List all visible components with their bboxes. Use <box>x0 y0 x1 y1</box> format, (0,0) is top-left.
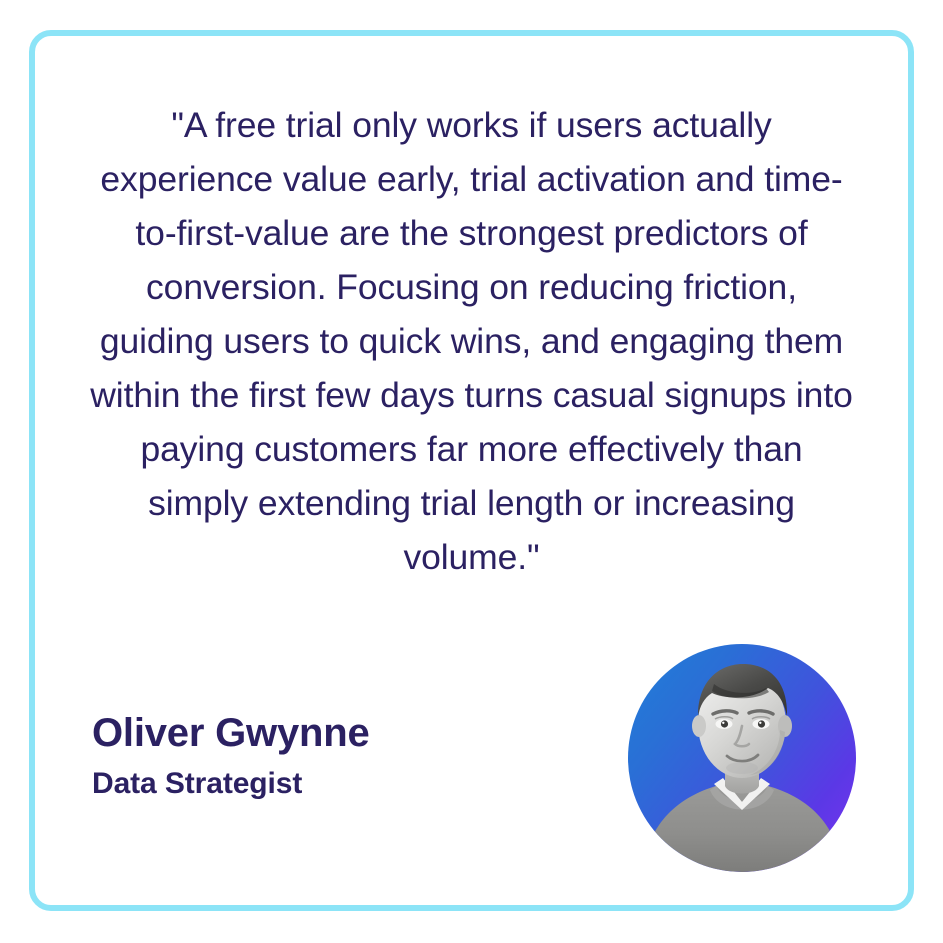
testimonial-stage: "A free trial only works if users actual… <box>0 0 943 943</box>
quote-block: "A free trial only works if users actual… <box>35 36 908 584</box>
person-portrait-icon <box>628 644 856 872</box>
quote-text: "A free trial only works if users actual… <box>87 98 856 584</box>
testimonial-card: "A free trial only works if users actual… <box>29 30 914 911</box>
author-name: Oliver Gwynne <box>92 709 370 758</box>
avatar <box>628 644 856 872</box>
person-info: Oliver Gwynne Data Strategist <box>92 709 370 802</box>
author-role: Data Strategist <box>92 766 370 802</box>
